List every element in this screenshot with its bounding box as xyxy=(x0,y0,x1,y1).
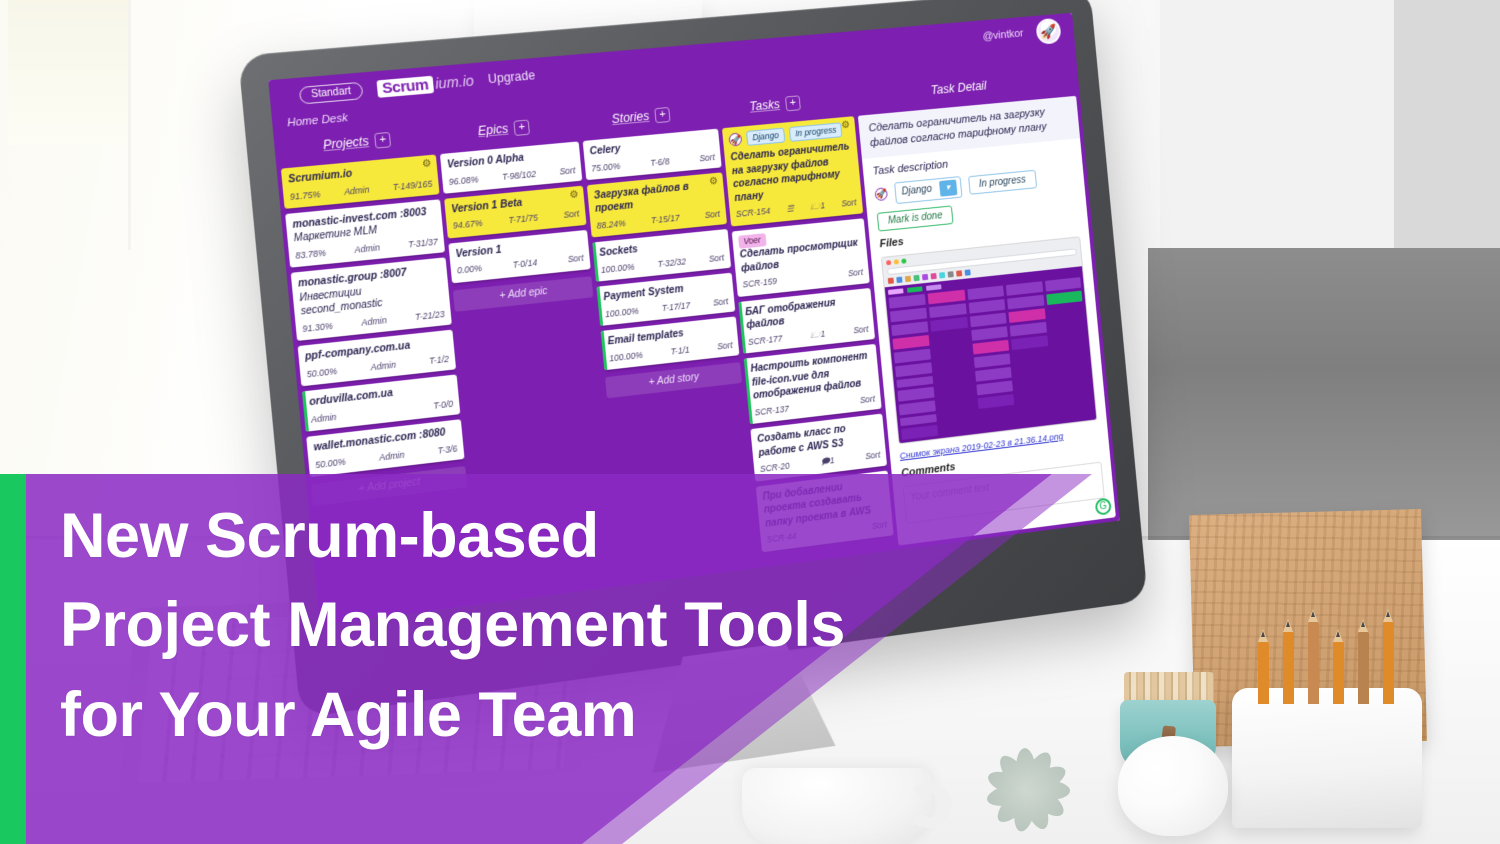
pencil xyxy=(1258,642,1269,704)
task-sort-link[interactable]: Sort xyxy=(865,450,881,463)
story-tasks: T-1/1 xyxy=(670,344,690,358)
task-card[interactable]: БАГ отображения файловSCR-177🗁1Sort xyxy=(738,288,875,354)
file-thumbnail[interactable] xyxy=(881,236,1098,444)
pencil xyxy=(1358,632,1369,704)
project-tasks: T-21/23 xyxy=(415,309,446,324)
attachment-icon[interactable]: 🗁1 xyxy=(810,329,826,342)
mug-handle xyxy=(906,782,952,828)
epic-card[interactable]: Version 1 Beta94.67%T-71/75Sort⚙ xyxy=(444,186,586,239)
story-sort-link[interactable]: Sort xyxy=(699,152,715,165)
project-percent: 50.00% xyxy=(306,366,338,381)
project-role: Admin xyxy=(344,184,370,198)
project-role: Admin xyxy=(361,315,387,329)
project-card[interactable]: monastic-invest.com :8003Маркетинг MLM83… xyxy=(285,199,445,268)
epic-tasks: T-0/14 xyxy=(512,258,537,272)
epic-sort-link[interactable]: Sort xyxy=(567,253,584,266)
project-tasks: T-1/2 xyxy=(429,354,450,368)
story-percent: 75.00% xyxy=(591,160,621,174)
user-handle[interactable]: @vintkor xyxy=(982,28,1024,43)
column-title-stories: Stories xyxy=(611,109,650,126)
rocket-avatar-icon: 🚀 xyxy=(874,187,888,201)
task-card[interactable]: VoerСделать просмотрщик файловSCR-159Sor… xyxy=(732,218,870,297)
story-sort-link[interactable]: Sort xyxy=(708,252,724,265)
task-code: SCR-20 xyxy=(760,461,791,476)
task-sort-link[interactable]: Sort xyxy=(841,198,857,211)
project-tasks: T-3/6 xyxy=(437,443,458,457)
project-role: Admin xyxy=(311,412,338,427)
plan-badge: Standart xyxy=(299,81,364,104)
card-title: Сделать ограничитель на загрузку файлов … xyxy=(730,141,855,206)
task-card[interactable]: Настроить компонент file-icon.vue для от… xyxy=(744,344,882,424)
add-project-icon[interactable]: + xyxy=(374,131,391,148)
wall-panel xyxy=(8,0,128,145)
project-card[interactable]: monastic.group :8007Инвестиции second_mo… xyxy=(291,258,452,342)
app-logo[interactable]: Scrum ium.io xyxy=(376,72,474,98)
task-detail-panel: Сделать ограничитель на загрузку файлов … xyxy=(858,96,1116,546)
task-code: SCR-137 xyxy=(754,403,789,418)
project-tasks: T-31/37 xyxy=(408,236,439,251)
grammarly-icon[interactable]: G xyxy=(1095,497,1112,515)
gear-icon[interactable]: ⚙ xyxy=(421,158,433,170)
headline-line-2: Project Management Tools xyxy=(60,581,1060,670)
task-detail-column: Сделать ограничитель на загрузку файлов … xyxy=(858,96,1116,546)
task-card[interactable]: Создать класс по работе с AWS S3SCR-20🗩1… xyxy=(750,414,887,482)
headline-line-3: for Your Agile Team xyxy=(60,671,1060,760)
green-accent-bar xyxy=(0,474,26,844)
project-percent: 83.78% xyxy=(295,248,327,263)
comment-icon[interactable]: 🗩1 xyxy=(820,455,835,468)
epic-percent: 94.67% xyxy=(452,218,483,233)
story-sort-link[interactable]: Sort xyxy=(704,209,720,222)
story-card[interactable]: Celery75.00%T-6/8Sort xyxy=(583,129,722,181)
embedded-board-screenshot xyxy=(885,266,1097,443)
minimize-icon xyxy=(894,259,899,264)
status-tag[interactable]: In progress xyxy=(789,122,843,142)
pencil-holder xyxy=(1232,688,1422,828)
project-tasks: T-149/165 xyxy=(392,178,432,193)
pencil xyxy=(1333,642,1344,704)
gear-icon[interactable]: ⚙ xyxy=(840,119,852,131)
attachment-icon[interactable]: 🗁1 xyxy=(810,201,826,214)
upgrade-link[interactable]: Upgrade xyxy=(487,68,535,86)
column-header-stories: Stories + xyxy=(572,103,709,130)
story-percent: 100.00% xyxy=(605,306,640,321)
assignee-tag[interactable]: Django xyxy=(746,128,785,147)
task-sort-link[interactable]: Sort xyxy=(848,267,864,280)
logo-mark-text: Scrum xyxy=(376,75,434,97)
project-tasks: T-0/0 xyxy=(433,398,454,412)
story-card[interactable]: Загрузка файлов в проект88.24%T-15/17Sor… xyxy=(587,172,727,238)
epic-card[interactable]: Version 10.00%T-0/14Sort xyxy=(448,230,590,283)
rocket-avatar-icon[interactable]: 🚀 xyxy=(1035,18,1061,45)
mark-is-done-button[interactable]: Mark is done xyxy=(877,205,954,231)
task-detail-body: Task description 🚀 Django ▾ In progress xyxy=(862,138,1115,533)
hamburger-icon[interactable]: ☰ xyxy=(786,204,794,216)
pencil xyxy=(1383,622,1394,704)
column-title-epics: Epics xyxy=(477,121,508,138)
column-header-tasks: Tasks + xyxy=(708,91,842,118)
column-title-detail: Task Detail xyxy=(930,79,987,98)
task-sort-link[interactable]: Sort xyxy=(853,324,869,337)
story-tasks: T-15/17 xyxy=(651,213,680,227)
gear-icon[interactable]: ⚙ xyxy=(708,176,720,188)
wall-right-strip xyxy=(1394,0,1500,250)
epic-tasks: T-98/102 xyxy=(502,168,537,183)
embedded-columns xyxy=(889,277,1094,440)
story-percent: 100.00% xyxy=(609,350,644,365)
add-story-icon[interactable]: + xyxy=(654,106,670,122)
story-tasks: T-6/8 xyxy=(650,156,670,169)
add-epic-button[interactable]: + Add epic xyxy=(453,276,594,312)
story-percent: 88.24% xyxy=(596,218,626,232)
close-icon xyxy=(886,260,891,265)
wall-seam xyxy=(128,0,131,250)
story-percent: 100.00% xyxy=(600,262,635,277)
task-code: SCR-177 xyxy=(748,333,783,348)
chevron-down-icon[interactable]: ▾ xyxy=(939,179,957,196)
epic-percent: 0.00% xyxy=(457,263,483,277)
add-epic-icon[interactable]: + xyxy=(513,119,530,136)
task-sort-link[interactable]: Sort xyxy=(859,393,875,406)
column-header-epics: Epics + xyxy=(433,115,573,143)
banner-stage: Standart Scrum ium.io Upgrade @vintkor 🚀… xyxy=(0,0,1500,844)
status-badge[interactable]: In progress xyxy=(968,170,1037,195)
project-role: Admin xyxy=(379,449,405,464)
project-percent: 91.30% xyxy=(302,321,334,336)
project-role: Admin xyxy=(370,359,396,374)
project-percent: 91.75% xyxy=(289,188,321,203)
task-card[interactable]: 🚀DjangoIn progressСделать ограничитель н… xyxy=(722,116,863,226)
add-task-icon[interactable]: + xyxy=(785,95,801,111)
assignee-value: Django xyxy=(901,184,932,198)
gear-icon[interactable]: ⚙ xyxy=(568,189,580,201)
epic-card[interactable]: Version 0 Alpha96.08%T-98/102Sort xyxy=(440,141,582,193)
banner-headline: New Scrum-based Project Management Tools… xyxy=(60,492,1060,760)
project-role: Admin xyxy=(354,242,380,256)
maximize-icon xyxy=(901,258,906,263)
story-card[interactable]: Email templates100.00%T-1/1Sort xyxy=(601,317,740,371)
epic-sort-link[interactable]: Sort xyxy=(559,165,576,178)
epic-sort-link[interactable]: Sort xyxy=(563,209,580,222)
story-sort-link[interactable]: Sort xyxy=(717,340,733,353)
column-title-tasks: Tasks xyxy=(749,97,780,114)
epic-percent: 96.08% xyxy=(448,174,479,188)
column-title-projects: Projects xyxy=(323,134,370,152)
apple-ornament xyxy=(1118,736,1228,836)
assignee-select[interactable]: Django ▾ xyxy=(894,176,962,204)
white-mug xyxy=(742,768,932,844)
story-sort-link[interactable]: Sort xyxy=(713,296,729,309)
epic-tasks: T-71/75 xyxy=(508,213,538,227)
story-tasks: T-17/17 xyxy=(661,300,690,314)
task-code: SCR-159 xyxy=(742,276,777,291)
project-percent: 50.00% xyxy=(315,456,347,471)
pencil xyxy=(1308,622,1319,704)
rocket-avatar-icon: 🚀 xyxy=(728,133,742,147)
wall-grey-band xyxy=(1148,248,1500,548)
headline-line-1: New Scrum-based xyxy=(60,492,1060,581)
pencil xyxy=(1283,632,1294,704)
task-code: SCR-154 xyxy=(736,206,771,221)
story-tasks: T-32/32 xyxy=(657,256,686,270)
logo-domain-text: ium.io xyxy=(435,72,475,92)
